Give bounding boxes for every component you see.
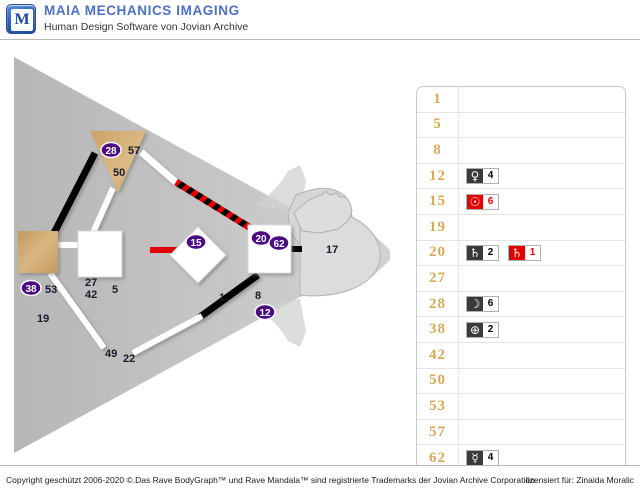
planet-chip-venus-design[interactable]: ♀4	[466, 168, 499, 184]
table-row[interactable]: 1	[417, 87, 625, 113]
app-title: MAIA MECHANICS IMAGING	[44, 3, 240, 18]
table-row[interactable]: 19	[417, 215, 625, 241]
gate-number: 5	[417, 112, 459, 137]
gate-number: 42	[417, 343, 459, 368]
gate-label-1: 1	[219, 292, 225, 304]
gate-label-17: 17	[326, 244, 338, 256]
gate-label-57: 57	[128, 145, 140, 157]
svg-text:12: 12	[259, 308, 271, 319]
app-header: M MAIA MECHANICS IMAGING Human Design So…	[0, 0, 640, 40]
planet-line-number: 2	[483, 246, 498, 260]
center-spleen[interactable]	[18, 231, 58, 273]
table-row[interactable]: 50	[417, 369, 625, 395]
gate-number: 27	[417, 266, 459, 291]
planet-chip-saturn-personality[interactable]: ♄1	[508, 245, 541, 261]
planet-line-number: 4	[483, 451, 498, 465]
bodygraph-diagram[interactable]: 28 57 50 38 53 19 27 42 5 15	[0, 45, 410, 465]
table-row[interactable]: 27	[417, 266, 625, 292]
svg-text:28: 28	[105, 146, 117, 157]
planet-chip-mercury-design[interactable]: ☿4	[466, 450, 499, 466]
gate-badge-20[interactable]: 20	[251, 231, 271, 246]
center-sacral[interactable]	[78, 231, 122, 277]
gate-label-8: 8	[255, 290, 261, 302]
planet-activations: ⊕2	[459, 322, 625, 338]
svg-text:20: 20	[255, 234, 267, 245]
gate-number: 19	[417, 215, 459, 240]
planet-line-number: 1	[525, 246, 540, 260]
main-content: 28 57 50 38 53 19 27 42 5 15	[0, 40, 640, 465]
mercury-icon: ☿	[467, 451, 483, 465]
gate-label-5: 5	[112, 284, 118, 296]
gate-badge-15[interactable]: 15	[186, 235, 206, 250]
planet-activations: ☿4	[459, 450, 625, 466]
table-row[interactable]: 28☽6	[417, 292, 625, 318]
table-row[interactable]: 38⊕2	[417, 317, 625, 343]
table-row[interactable]: 5	[417, 113, 625, 139]
gate-badge-12[interactable]: 12	[255, 305, 275, 320]
gate-label-22: 22	[123, 353, 135, 365]
planet-chip-saturn-design[interactable]: ♄2	[466, 245, 499, 261]
gate-label-19: 19	[37, 313, 49, 325]
logo-letter: M	[11, 9, 33, 31]
gate-label-27: 27	[85, 277, 97, 289]
saturn-icon: ♄	[509, 246, 525, 260]
sun-icon: ☉	[467, 195, 483, 209]
svg-text:62: 62	[273, 239, 285, 250]
gate-activation-table[interactable]: 15812♀415☉61920♄2♄12728☽638⊕24250535762☿…	[416, 86, 626, 496]
table-row[interactable]: 12♀4	[417, 164, 625, 190]
gate-number: 28	[417, 292, 459, 317]
planet-line-number: 2	[483, 323, 498, 337]
planet-activations: ☉6	[459, 194, 625, 210]
planet-line-number: 6	[483, 195, 498, 209]
gate-number: 1	[417, 87, 459, 112]
planet-chip-earth-design[interactable]: ⊕2	[466, 322, 499, 338]
gate-number: 20	[417, 240, 459, 265]
app-footer: Copyright geschützt 2006-2020 ©.Das Rave…	[0, 465, 640, 497]
app-subtitle: Human Design Software von Jovian Archive	[44, 21, 248, 33]
table-row[interactable]: 20♄2♄1	[417, 241, 625, 267]
gate-badge-28[interactable]: 28	[101, 143, 121, 158]
table-row[interactable]: 42	[417, 343, 625, 369]
gate-number: 53	[417, 394, 459, 419]
saturn-icon: ♄	[467, 246, 483, 260]
table-row[interactable]: 53	[417, 394, 625, 420]
gate-label-53: 53	[45, 284, 57, 296]
planet-chip-moon-design[interactable]: ☽6	[466, 296, 499, 312]
venus-icon: ♀	[467, 169, 483, 183]
gate-number: 15	[417, 189, 459, 214]
bodygraph-svg: 28 57 50 38 53 19 27 42 5 15	[0, 45, 410, 465]
license-text: lizensiert für: Zinaida Moralic	[526, 475, 634, 485]
planet-line-number: 6	[483, 297, 498, 311]
app-logo: M	[6, 4, 36, 34]
gate-number: 8	[417, 138, 459, 163]
copyright-text: Copyright geschützt 2006-2020 ©.Das Rave…	[6, 475, 537, 485]
planet-activations: ♀4	[459, 168, 625, 184]
svg-text:15: 15	[190, 238, 202, 249]
planet-activations: ☽6	[459, 296, 625, 312]
table-row[interactable]: 15☉6	[417, 189, 625, 215]
moon-icon: ☽	[467, 297, 483, 311]
gate-label-49: 49	[105, 348, 117, 360]
gate-badge-62[interactable]: 62	[269, 236, 289, 251]
table-row[interactable]: 57	[417, 420, 625, 446]
planet-activations: ♄2♄1	[459, 245, 625, 261]
gate-label-50: 50	[113, 167, 125, 179]
table-row[interactable]: 8	[417, 138, 625, 164]
earth-icon: ⊕	[467, 323, 483, 337]
gate-number: 12	[417, 164, 459, 189]
gate-badge-38[interactable]: 38	[21, 281, 41, 296]
planet-chip-sun-personality[interactable]: ☉6	[466, 194, 499, 210]
gate-label-42: 42	[85, 289, 97, 301]
gate-number: 38	[417, 317, 459, 342]
svg-text:38: 38	[25, 284, 37, 295]
planet-line-number: 4	[483, 169, 498, 183]
gate-number: 57	[417, 420, 459, 445]
gate-number: 50	[417, 368, 459, 393]
